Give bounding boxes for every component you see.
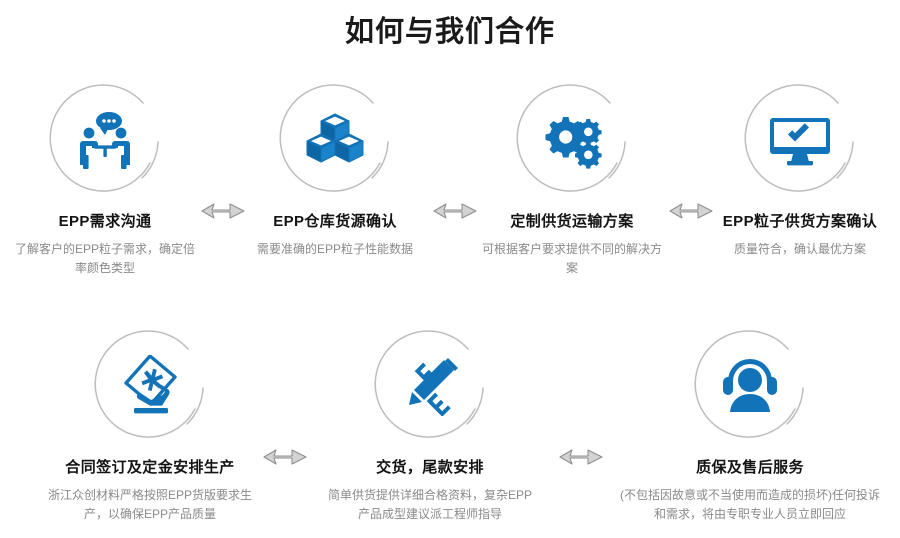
headset-support-icon bbox=[692, 328, 808, 444]
step-description: 可根据客户要求提供不同的解决方案 bbox=[472, 240, 672, 278]
step-icon-ring bbox=[372, 328, 488, 444]
step-description: 浙江众创材料严格按照EPP货版要求生产，以确保EPP产品质量 bbox=[40, 486, 260, 524]
step-icon-ring bbox=[514, 82, 630, 198]
stacked-boxes-icon bbox=[277, 82, 393, 198]
process-step-1[interactable]: EPP需求沟通 了解客户的EPP粒子需求，确定倍率颜色类型 bbox=[5, 82, 205, 278]
process-row-1: EPP需求沟通 了解客户的EPP粒子需求，确定倍率颜色类型 bbox=[0, 82, 900, 282]
process-step-3[interactable]: 定制供货运输方案 可根据客户要求提供不同的解决方案 bbox=[472, 82, 672, 278]
process-row-2: 合同签订及定金安排生产 浙江众创材料严格按照EPP货版要求生产，以确保EPP产品… bbox=[0, 328, 900, 528]
step-icon-ring bbox=[692, 328, 808, 444]
step-icon-ring bbox=[742, 82, 858, 198]
process-step-5[interactable]: 合同签订及定金安排生产 浙江众创材料严格按照EPP货版要求生产，以确保EPP产品… bbox=[40, 328, 260, 524]
step-title: EPP需求沟通 bbox=[5, 212, 205, 232]
step-title: EPP粒子供货方案确认 bbox=[700, 212, 900, 232]
page-title: 如何与我们合作 bbox=[0, 12, 900, 52]
step-description: (不包括因故意或不当使用而造成的损坏)任何投诉和需求，将由专职专业人员立即回应 bbox=[612, 486, 888, 524]
hand-signing-document-icon bbox=[92, 328, 208, 444]
gears-icon bbox=[514, 82, 630, 198]
process-step-7[interactable]: 质保及售后服务 (不包括因故意或不当使用而造成的损坏)任何投诉和需求，将由专职专… bbox=[612, 328, 888, 524]
step-icon-ring bbox=[47, 82, 163, 198]
meeting-discussion-icon bbox=[47, 82, 163, 198]
monitor-check-icon bbox=[742, 82, 858, 198]
step-icon-ring bbox=[92, 328, 208, 444]
step-description: 简单供货提供详细合格资料，复杂EPP产品成型建议派工程师指导 bbox=[320, 486, 540, 524]
step-description: 质量符合，确认最优方案 bbox=[700, 240, 900, 259]
step-description: 了解客户的EPP粒子需求，确定倍率颜色类型 bbox=[5, 240, 205, 278]
pen-document-icon bbox=[372, 328, 488, 444]
process-step-4[interactable]: EPP粒子供货方案确认 质量符合，确认最优方案 bbox=[700, 82, 900, 259]
step-title: 合同签订及定金安排生产 bbox=[40, 458, 260, 478]
next-step-arrow bbox=[558, 446, 604, 468]
step-title: 定制供货运输方案 bbox=[472, 212, 672, 232]
process-step-6[interactable]: 交货，尾款安排 简单供货提供详细合格资料，复杂EPP产品成型建议派工程师指导 bbox=[320, 328, 540, 524]
next-step-arrow bbox=[262, 446, 308, 468]
step-title: EPP仓库货源确认 bbox=[235, 212, 435, 232]
process-step-2[interactable]: EPP仓库货源确认 需要准确的EPP粒子性能数据 bbox=[235, 82, 435, 259]
step-title: 交货，尾款安排 bbox=[320, 458, 540, 478]
step-icon-ring bbox=[277, 82, 393, 198]
step-title: 质保及售后服务 bbox=[612, 458, 888, 478]
step-description: 需要准确的EPP粒子性能数据 bbox=[235, 240, 435, 259]
